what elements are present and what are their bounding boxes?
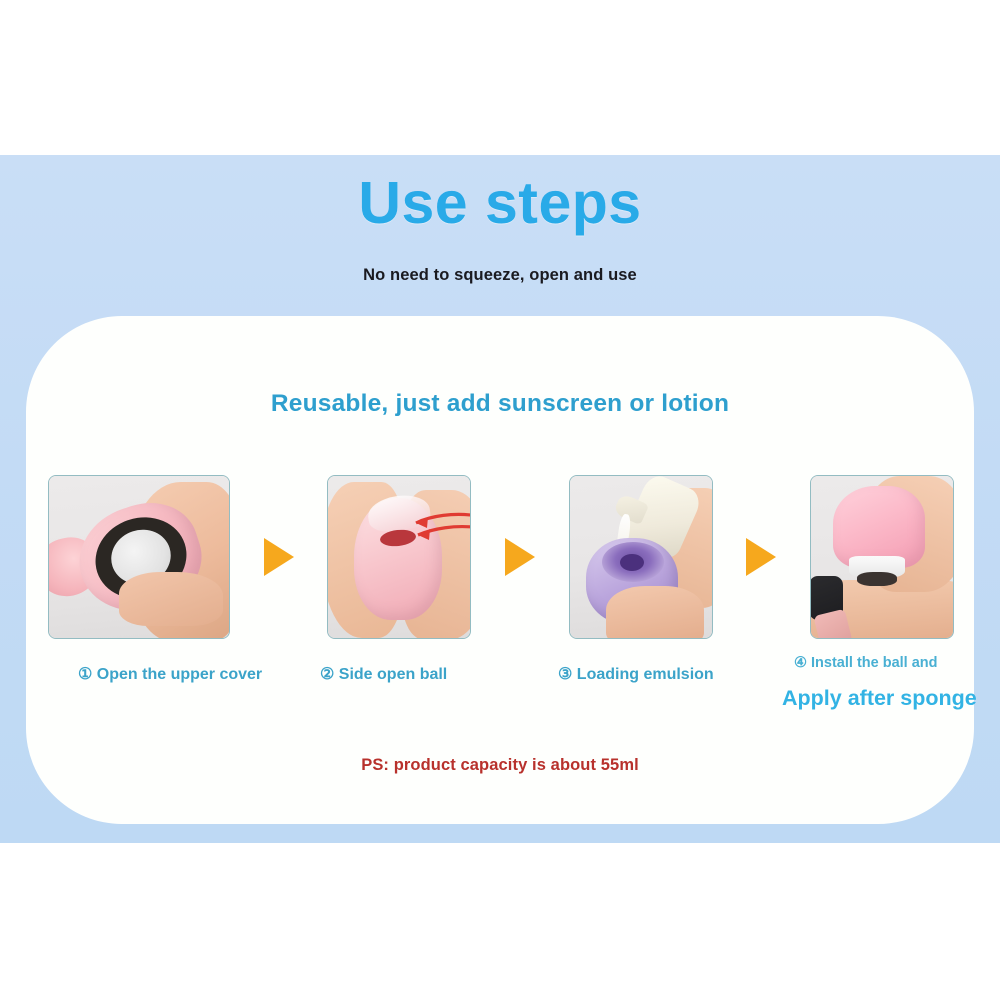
- bottom-hand-shape: [606, 586, 704, 639]
- step-captions: ① Open the upper cover ② Side open ball …: [48, 650, 954, 760]
- step-caption-4-line2: Apply after sponge: [782, 686, 977, 711]
- capacity-footnote: PS: product capacity is about 55ml: [26, 756, 974, 775]
- step-caption-3: ③ Loading emulsion: [558, 664, 714, 684]
- device-tip-shape: [857, 572, 897, 586]
- arrow-slot-2: [471, 538, 568, 576]
- step-image-2: [327, 475, 471, 639]
- step-caption-4-line1: ④ Install the ball and: [794, 655, 938, 671]
- steps-card: Reusable, just add sunscreen or lotion: [26, 316, 974, 824]
- arrow-slot-3: [713, 538, 810, 576]
- steps-strip: [48, 471, 954, 643]
- fingers-shape: [119, 572, 223, 626]
- arrow-slot-1: [230, 538, 327, 576]
- red-annotation-arrows-icon: [394, 510, 471, 546]
- right-triangle-arrow-icon: [264, 538, 294, 576]
- step-caption-1: ① Open the upper cover: [78, 664, 262, 684]
- device-core-shape: [620, 554, 644, 571]
- step-caption-2: ② Side open ball: [320, 664, 447, 684]
- page-title: Use steps: [0, 174, 1000, 233]
- product-infographic-page: Use steps No need to squeeze, open and u…: [0, 0, 1000, 1000]
- card-title: Reusable, just add sunscreen or lotion: [26, 390, 974, 418]
- right-triangle-arrow-icon: [505, 538, 535, 576]
- right-triangle-arrow-icon: [746, 538, 776, 576]
- page-subtitle: No need to squeeze, open and use: [0, 266, 1000, 285]
- step-image-3: [569, 475, 713, 639]
- step-image-4: [810, 475, 954, 639]
- step-image-1: [48, 475, 230, 639]
